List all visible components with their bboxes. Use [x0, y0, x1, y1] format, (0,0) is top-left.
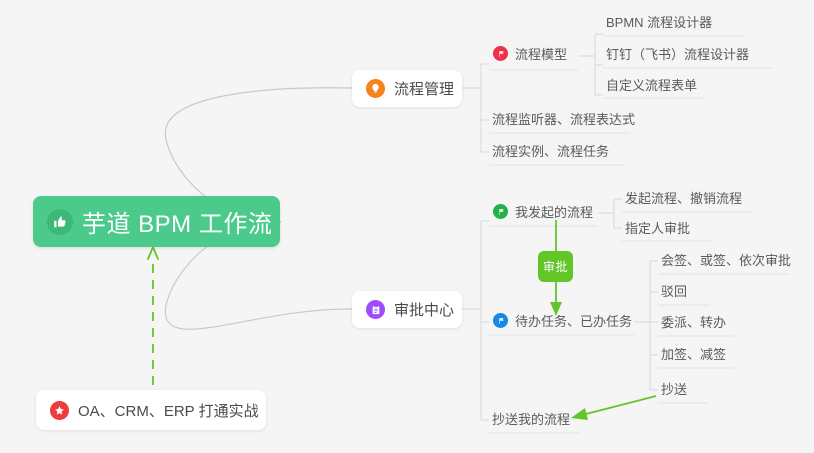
branch-approval-center[interactable]: 审批中心	[352, 291, 462, 328]
branch-approval-center-label: 审批中心	[394, 299, 454, 320]
approve-badge[interactable]: 审批	[538, 251, 573, 282]
node-reject[interactable]: 驳回	[661, 281, 687, 300]
node-reject-label: 驳回	[661, 281, 687, 300]
node-start-cancel-process-label: 发起流程、撤销流程	[625, 188, 742, 207]
footnote-node[interactable]: OA、CRM、ERP 打通实战	[36, 390, 266, 430]
node-dingtalk-feishu-designer-label: 钉钉（飞书）流程设计器	[606, 44, 749, 63]
node-todo-done-task-label: 待办任务、已办任务	[515, 311, 632, 330]
node-add-remove-sign-label: 加签、减签	[661, 344, 726, 363]
node-countersign-or-sequential[interactable]: 会签、或签、依次审批	[661, 250, 791, 269]
footnote-label: OA、CRM、ERP 打通实战	[78, 400, 259, 421]
node-my-initiated[interactable]: 我发起的流程	[493, 202, 593, 221]
green-arrow-cc	[571, 396, 656, 420]
node-assignee-approval-label: 指定人审批	[625, 218, 690, 237]
node-todo-done-task[interactable]: 待办任务、已办任务	[493, 311, 632, 330]
dashed-arrow-footnote-to-root	[148, 247, 158, 385]
node-delegate-transfer-label: 委派、转办	[661, 312, 726, 331]
node-process-model-label: 流程模型	[515, 44, 567, 63]
thumbs-up-icon	[47, 209, 73, 235]
node-instance-task-label: 流程实例、流程任务	[492, 141, 609, 160]
node-countersign-or-sequential-label: 会签、或签、依次审批	[661, 250, 791, 269]
node-custom-process-form[interactable]: 自定义流程表单	[606, 75, 697, 94]
node-cc-to-me[interactable]: 抄送我的流程	[492, 409, 570, 428]
node-cc-to-me-label: 抄送我的流程	[492, 409, 570, 428]
node-listener-expression[interactable]: 流程监听器、流程表达式	[492, 109, 635, 128]
node-assignee-approval[interactable]: 指定人审批	[625, 218, 690, 237]
clipboard-icon	[366, 300, 385, 319]
node-my-initiated-label: 我发起的流程	[515, 202, 593, 221]
flag-icon	[493, 204, 508, 219]
node-custom-process-form-label: 自定义流程表单	[606, 75, 697, 94]
approve-badge-label: 审批	[543, 258, 568, 275]
node-bpmn-designer[interactable]: BPMN 流程设计器	[606, 12, 712, 31]
node-cc[interactable]: 抄送	[661, 379, 687, 398]
node-listener-expression-label: 流程监听器、流程表达式	[492, 109, 635, 128]
root-label: 芋道 BPM 工作流	[82, 204, 272, 239]
flag-icon	[493, 313, 508, 328]
node-bpmn-designer-label: BPMN 流程设计器	[606, 12, 712, 31]
lightbulb-icon	[366, 79, 385, 98]
node-dingtalk-feishu-designer[interactable]: 钉钉（飞书）流程设计器	[606, 44, 749, 63]
star-icon	[50, 401, 69, 420]
node-process-model[interactable]: 流程模型	[493, 44, 567, 63]
node-cc-label: 抄送	[661, 379, 687, 398]
node-add-remove-sign[interactable]: 加签、减签	[661, 344, 726, 363]
node-delegate-transfer[interactable]: 委派、转办	[661, 312, 726, 331]
node-instance-task[interactable]: 流程实例、流程任务	[492, 141, 609, 160]
branch-process-management[interactable]: 流程管理	[352, 70, 462, 107]
node-start-cancel-process[interactable]: 发起流程、撤销流程	[625, 188, 742, 207]
root-node[interactable]: 芋道 BPM 工作流	[33, 196, 280, 247]
branch-process-management-label: 流程管理	[394, 78, 454, 99]
flag-icon	[493, 46, 508, 61]
mindmap-canvas: 芋道 BPM 工作流 流程管理 审批中心	[0, 0, 814, 453]
